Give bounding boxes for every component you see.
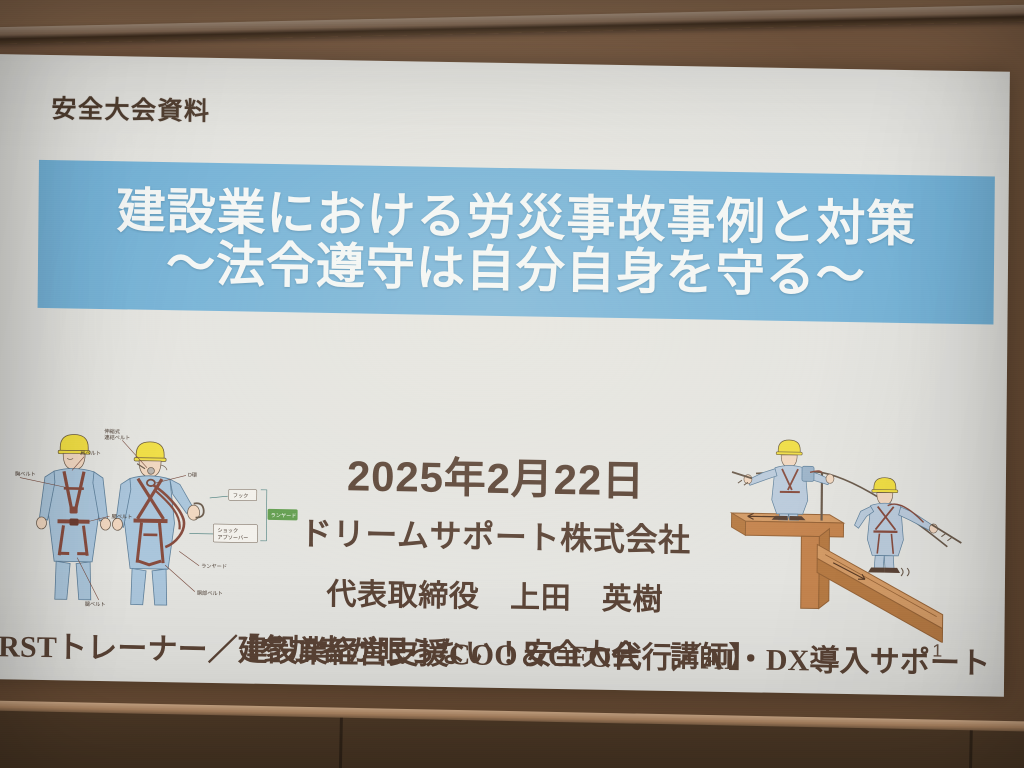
slide-kicker: 安全大会資料 <box>51 89 210 128</box>
label-d-ring: D環 <box>188 472 197 479</box>
harness-worker-front <box>36 434 112 600</box>
projected-slide: 安全大会資料 建設業における労災事故事例と対策 ～法令遵守は自分自身を守る～ 2… <box>0 54 1010 697</box>
label-chest-belt: 胸ベルト <box>15 469 36 477</box>
label-retractable-belt: 伸縮式 <box>104 427 120 435</box>
harness-diagram-svg: 胸ベルト 肩ベルト 伸縮式 連結ベルト D環 <box>13 412 303 623</box>
harness-diagram: 胸ベルト 肩ベルト 伸縮式 連結ベルト D環 <box>13 412 303 623</box>
worker-on-platform <box>732 439 835 521</box>
harness-worker-back <box>112 441 205 606</box>
slide-canvas: 安全大会資料 建設業における労災事故事例と対策 ～法令遵守は自分自身を守る～ 2… <box>0 54 1010 697</box>
wainscot-seam <box>968 730 973 768</box>
slide-page-number: 1 <box>932 641 942 662</box>
label-shock-absorber: ショック <box>217 527 238 534</box>
wainscot-seam <box>338 718 343 768</box>
beam-lifeline-diagram <box>724 415 978 643</box>
label-lanyard-rope: ランヤード <box>201 563 227 570</box>
label-retractable-belt-2: 連結ベルト <box>104 433 130 441</box>
label-lanyard-group: ランヤード <box>271 512 297 519</box>
label-thigh-belt: 腿ベルト <box>85 600 106 608</box>
slide-title-band: 建設業における労災事故事例と対策 ～法令遵守は自分自身を守る～ <box>38 160 995 325</box>
label-shoulder-belt: 肩ベルト <box>80 450 101 457</box>
label-waist-belt: 胴部ベルト <box>197 590 223 597</box>
photo-stage: 安全大会資料 建設業における労災事故事例と対策 ～法令遵守は自分自身を守る～ 2… <box>0 0 1024 768</box>
beam-lifeline-svg <box>724 415 978 643</box>
label-hook: フック <box>233 492 249 499</box>
